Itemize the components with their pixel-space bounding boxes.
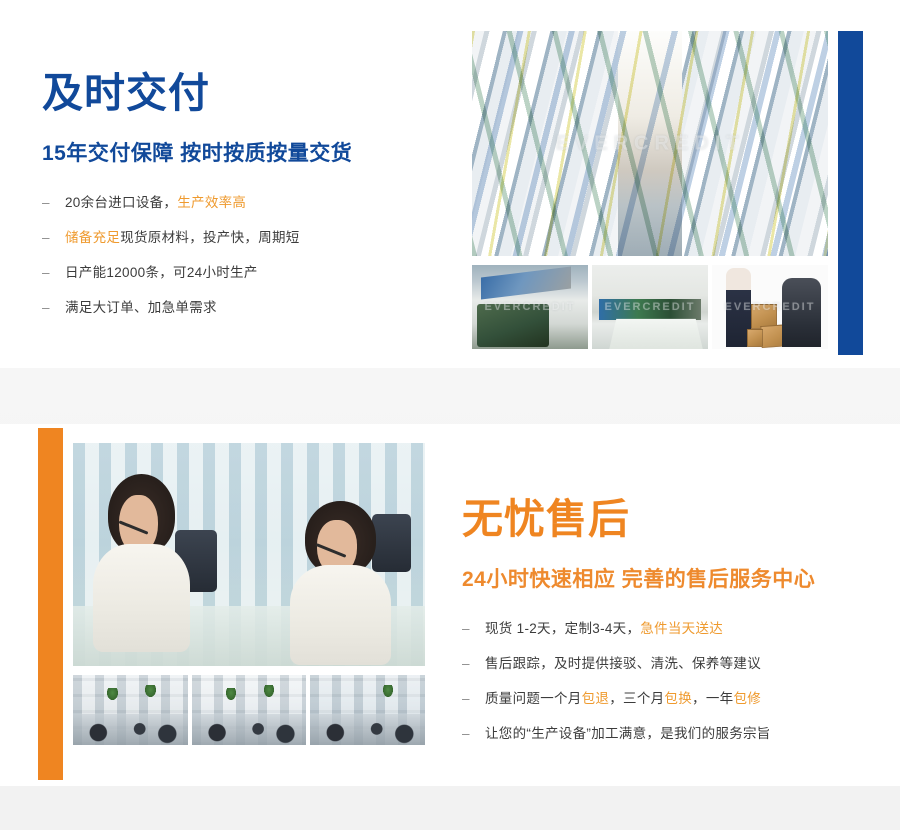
delivery-media-block: EVERCREDIT EVERCREDIT EVERCREDIT — [472, 31, 828, 349]
service-headline: 无忧售后 — [462, 496, 862, 543]
service-thumbnail-3[interactable] — [310, 675, 425, 745]
service-subheadline: 24小时快速相应 完善的售后服务中心 — [462, 563, 862, 593]
plain-text: 现货 1-2天，定制3-4天， — [485, 621, 640, 636]
packing-cartons-photo — [712, 265, 828, 349]
weaving-loom-photo — [472, 265, 588, 349]
office-cubicles-photo-2 — [192, 675, 307, 745]
plain-text: ，三个月 — [609, 691, 664, 706]
delivery-thumbnail-3[interactable]: EVERCREDIT — [712, 265, 828, 349]
office-cubicles-photo-1 — [73, 675, 188, 745]
delivery-thumbnail-2[interactable]: EVERCREDIT — [592, 265, 708, 349]
service-media-block — [73, 443, 425, 745]
call-center-photo — [73, 443, 425, 666]
service-hero-image — [73, 443, 425, 666]
office-cubicles-photo-3 — [310, 675, 425, 745]
highlighted-text: 包换 — [664, 691, 692, 706]
service-thumbnail-strip — [73, 675, 425, 745]
factory-floor-photo — [592, 265, 708, 349]
plain-text: 售后跟踪，及时提供接驳、清洗、保养等建议 — [485, 656, 761, 671]
plain-text: 满足大订单、加急单需求 — [65, 300, 217, 315]
agent-right — [305, 501, 375, 662]
list-item: 质量问题一个月包退，三个月包换，一年包修 — [462, 689, 862, 710]
service-accent-bar — [38, 428, 63, 780]
agent-left — [108, 474, 175, 648]
delivery-headline: 及时交付 — [42, 70, 442, 117]
plain-text: 质量问题一个月 — [485, 691, 582, 706]
promo-page: 及时交付 15年交付保障 按时按质按量交货 20余台进口设备，生产效率高 储备充… — [0, 0, 900, 830]
highlighted-text: 生产效率高 — [177, 195, 246, 210]
delivery-hero-image: EVERCREDIT — [472, 31, 828, 256]
plain-text: 20余台进口设备， — [65, 195, 177, 210]
list-item: 储备充足现货原材料，投产快，周期短 — [42, 228, 442, 249]
delivery-subheadline: 15年交付保障 按时按质按量交货 — [42, 137, 442, 167]
delivery-bullet-list: 20余台进口设备，生产效率高 储备充足现货原材料，投产快，周期短 日产能1200… — [42, 193, 442, 319]
list-item: 20余台进口设备，生产效率高 — [42, 193, 442, 214]
list-item: 日产能12000条，可24小时生产 — [42, 263, 442, 284]
list-item: 现货 1-2天，定制3-4天，急件当天送达 — [462, 619, 862, 640]
plain-text: 现货原材料，投产快，周期短 — [120, 230, 299, 245]
plain-text: 日产能12000条，可24小时生产 — [65, 265, 258, 280]
service-bullet-list: 现货 1-2天，定制3-4天，急件当天送达 售后跟踪，及时提供接驳、清洗、保养等… — [462, 619, 862, 745]
delivery-thumbnail-1[interactable]: EVERCREDIT — [472, 265, 588, 349]
list-item: 满足大订单、加急单需求 — [42, 298, 442, 319]
service-copy-block: 无忧售后 24小时快速相应 完善的售后服务中心 现货 1-2天，定制3-4天，急… — [462, 496, 862, 759]
service-section: 无忧售后 24小时快速相应 完善的售后服务中心 现货 1-2天，定制3-4天，急… — [0, 424, 900, 786]
yarn-spool-warehouse-photo — [472, 31, 828, 256]
carton-boxes — [712, 265, 828, 349]
delivery-section: 及时交付 15年交付保障 按时按质按量交货 20余台进口设备，生产效率高 储备充… — [0, 0, 900, 368]
delivery-thumbnail-strip: EVERCREDIT EVERCREDIT EVERCREDIT — [472, 265, 828, 349]
highlighted-text: 急件当天送达 — [640, 621, 723, 636]
office-chair-2 — [372, 514, 411, 572]
highlighted-text: 包修 — [733, 691, 761, 706]
highlighted-text: 包退 — [582, 691, 610, 706]
delivery-copy-block: 及时交付 15年交付保障 按时按质按量交货 20余台进口设备，生产效率高 储备充… — [42, 70, 442, 333]
list-item: 让您的“生产设备”加工满意，是我们的服务宗旨 — [462, 724, 862, 745]
delivery-accent-bar — [838, 31, 863, 355]
service-thumbnail-2[interactable] — [192, 675, 307, 745]
plain-text: 让您的“生产设备”加工满意，是我们的服务宗旨 — [485, 726, 771, 741]
list-item: 售后跟踪，及时提供接驳、清洗、保养等建议 — [462, 654, 862, 675]
plain-text: ，一年 — [692, 691, 733, 706]
highlighted-text: 储备充足 — [65, 230, 120, 245]
service-thumbnail-1[interactable] — [73, 675, 188, 745]
